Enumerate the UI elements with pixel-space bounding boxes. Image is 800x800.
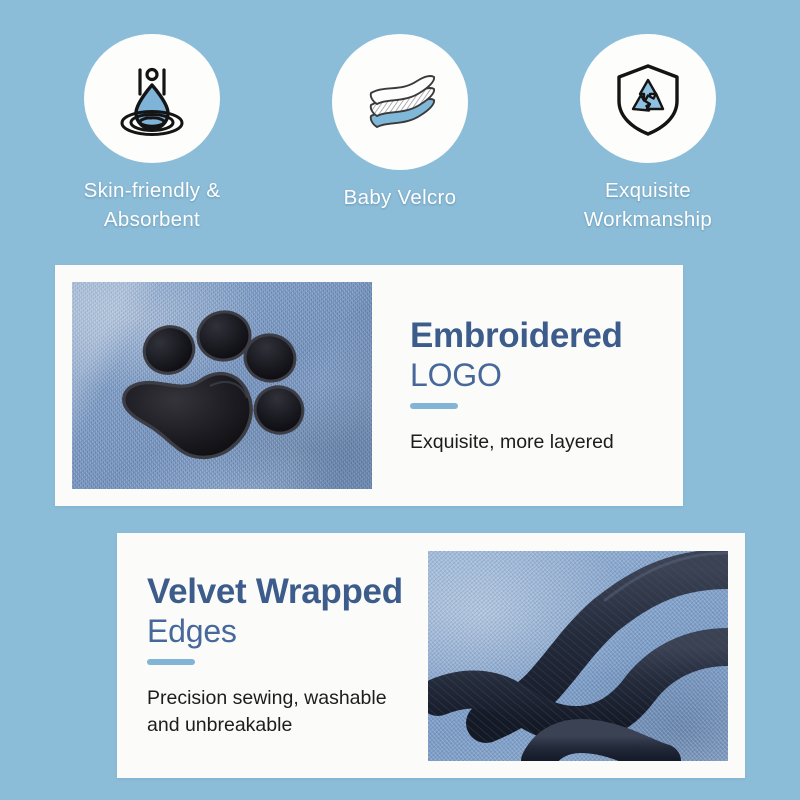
feature-card-velvet-wrapped-edges: Velvet Wrapped Edges Precision sewing, w…	[117, 533, 745, 778]
feature-label: Baby Velcro	[344, 184, 457, 212]
shield-recycle-icon	[606, 57, 690, 141]
navy-binding-trim-icon	[428, 551, 728, 761]
feature-icon-circle	[580, 34, 716, 163]
feature-highlights-row: Skin-friendly & Absorbent	[0, 34, 800, 234]
paw-print-embroidery-icon	[72, 282, 372, 489]
card-body-text: Precision sewing, washable and unbreakab…	[147, 685, 410, 739]
accent-underline-bar	[410, 403, 458, 409]
feature-item-baby-velcro: Baby Velcro	[276, 34, 524, 234]
feature-icon-circle	[332, 34, 468, 170]
card-heading-secondary: Edges	[147, 613, 410, 650]
embroidered-logo-text-block: Embroidered LOGO Exquisite, more layered	[372, 316, 683, 456]
card-heading-primary: Velvet Wrapped	[147, 572, 410, 611]
feature-item-skin-friendly: Skin-friendly & Absorbent	[28, 34, 276, 234]
stacked-fabric-layers-icon	[355, 57, 445, 147]
feature-icon-circle	[84, 34, 220, 163]
velvet-edges-text-block: Velvet Wrapped Edges Precision sewing, w…	[117, 572, 428, 739]
velvet-edge-photo	[428, 551, 728, 761]
embroidered-paw-print-photo	[72, 282, 372, 489]
card-heading-primary: Embroidered	[410, 316, 659, 355]
card-heading-secondary: LOGO	[410, 357, 659, 394]
accent-underline-bar	[147, 659, 195, 665]
feature-item-exquisite-workmanship: Exquisite Workmanship	[524, 34, 772, 234]
water-droplet-ripple-icon	[109, 56, 195, 142]
card-body-text: Exquisite, more layered	[410, 429, 659, 456]
feature-label: Exquisite Workmanship	[584, 177, 712, 234]
feature-card-embroidered-logo: Embroidered LOGO Exquisite, more layered	[55, 265, 683, 506]
feature-label: Skin-friendly & Absorbent	[84, 177, 221, 234]
